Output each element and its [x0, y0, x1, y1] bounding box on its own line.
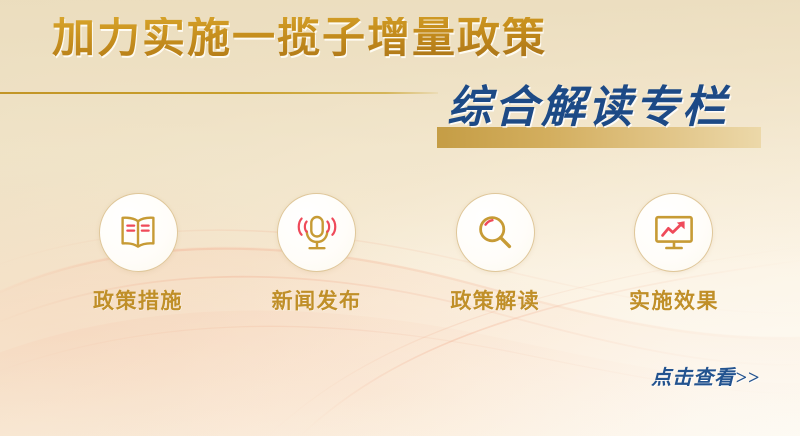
feature-item-news-release[interactable]: 新闻发布 — [241, 193, 393, 312]
title-divider-rule — [0, 92, 438, 94]
feature-icon-circle — [99, 193, 178, 272]
microphone-icon — [295, 212, 339, 254]
chart-monitor-icon — [651, 212, 697, 254]
magnifying-glass-icon — [473, 211, 517, 255]
feature-list: 政策措施 新闻发布 — [62, 193, 750, 312]
feature-label: 新闻发布 — [272, 291, 362, 312]
feature-icon-circle — [456, 193, 535, 272]
banner-main-title: 加力实施一揽子增量政策 — [52, 17, 547, 60]
feature-item-implementation-effect[interactable]: 实施效果 — [598, 193, 750, 312]
policy-banner: 加力实施一揽子增量政策 综合解读专栏 政策措施 — [0, 0, 800, 436]
feature-item-policy-reading[interactable]: 政策解读 — [419, 193, 571, 312]
feature-label: 实施效果 — [629, 291, 719, 312]
feature-item-policy-measures[interactable]: 政策措施 — [62, 193, 214, 312]
feature-icon-circle — [634, 193, 713, 272]
feature-icon-circle — [277, 193, 356, 272]
banner-subtitle: 综合解读专栏 — [447, 86, 729, 130]
open-book-icon — [116, 213, 160, 253]
feature-label: 政策措施 — [93, 291, 183, 312]
click-to-view-link[interactable]: 点击查看>> — [651, 368, 760, 388]
feature-label: 政策解读 — [450, 291, 540, 312]
